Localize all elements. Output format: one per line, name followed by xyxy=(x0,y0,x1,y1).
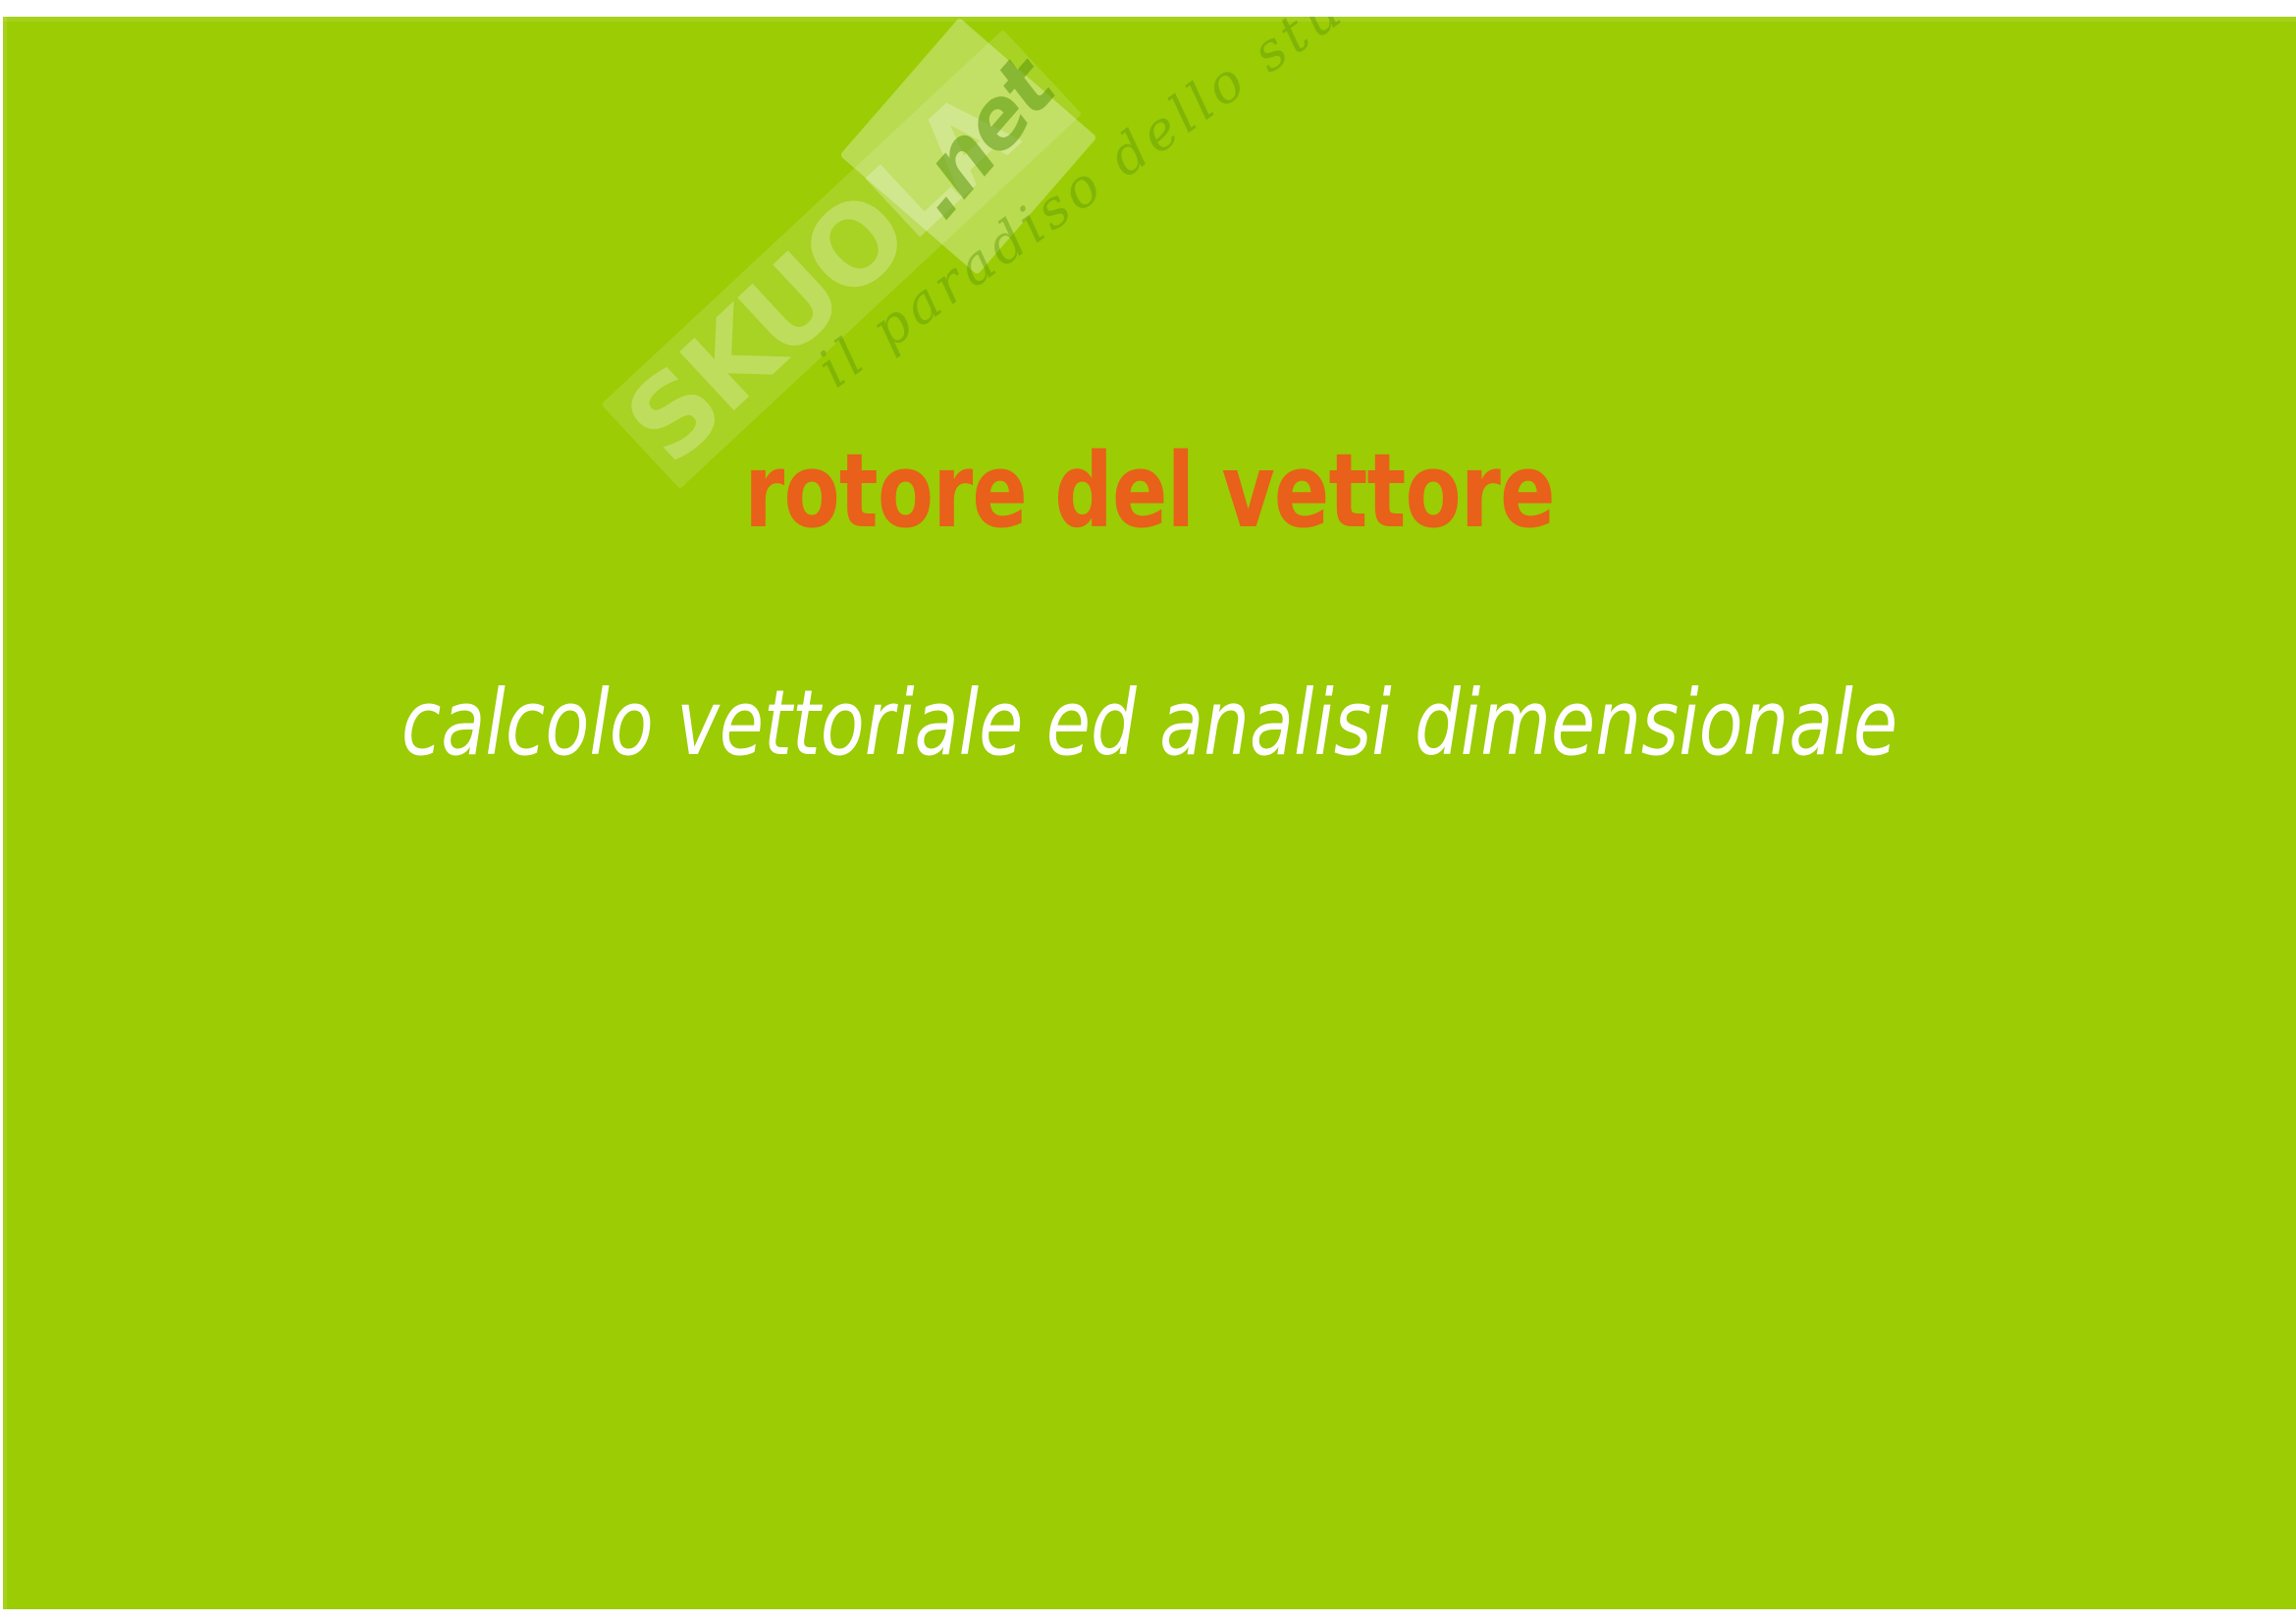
slide-background: skuola .net il paradiso dello studente r… xyxy=(3,17,2296,1609)
slide-subtitle: calcolo vettoriale ed analisi dimensiona… xyxy=(233,665,2067,783)
slide-title: rotore del vettore xyxy=(233,427,2067,555)
watermark-tagline-text: il paradiso dello studente xyxy=(807,27,1292,406)
slide-top-edge-band xyxy=(3,17,2296,22)
watermark-domain-badge xyxy=(839,18,1096,275)
presentation-slide: skuola .net il paradiso dello studente r… xyxy=(0,0,2296,1623)
watermark-domain-text: .net xyxy=(875,29,1087,246)
slide-content-area xyxy=(3,802,2296,1609)
watermark-bar xyxy=(601,29,1082,489)
